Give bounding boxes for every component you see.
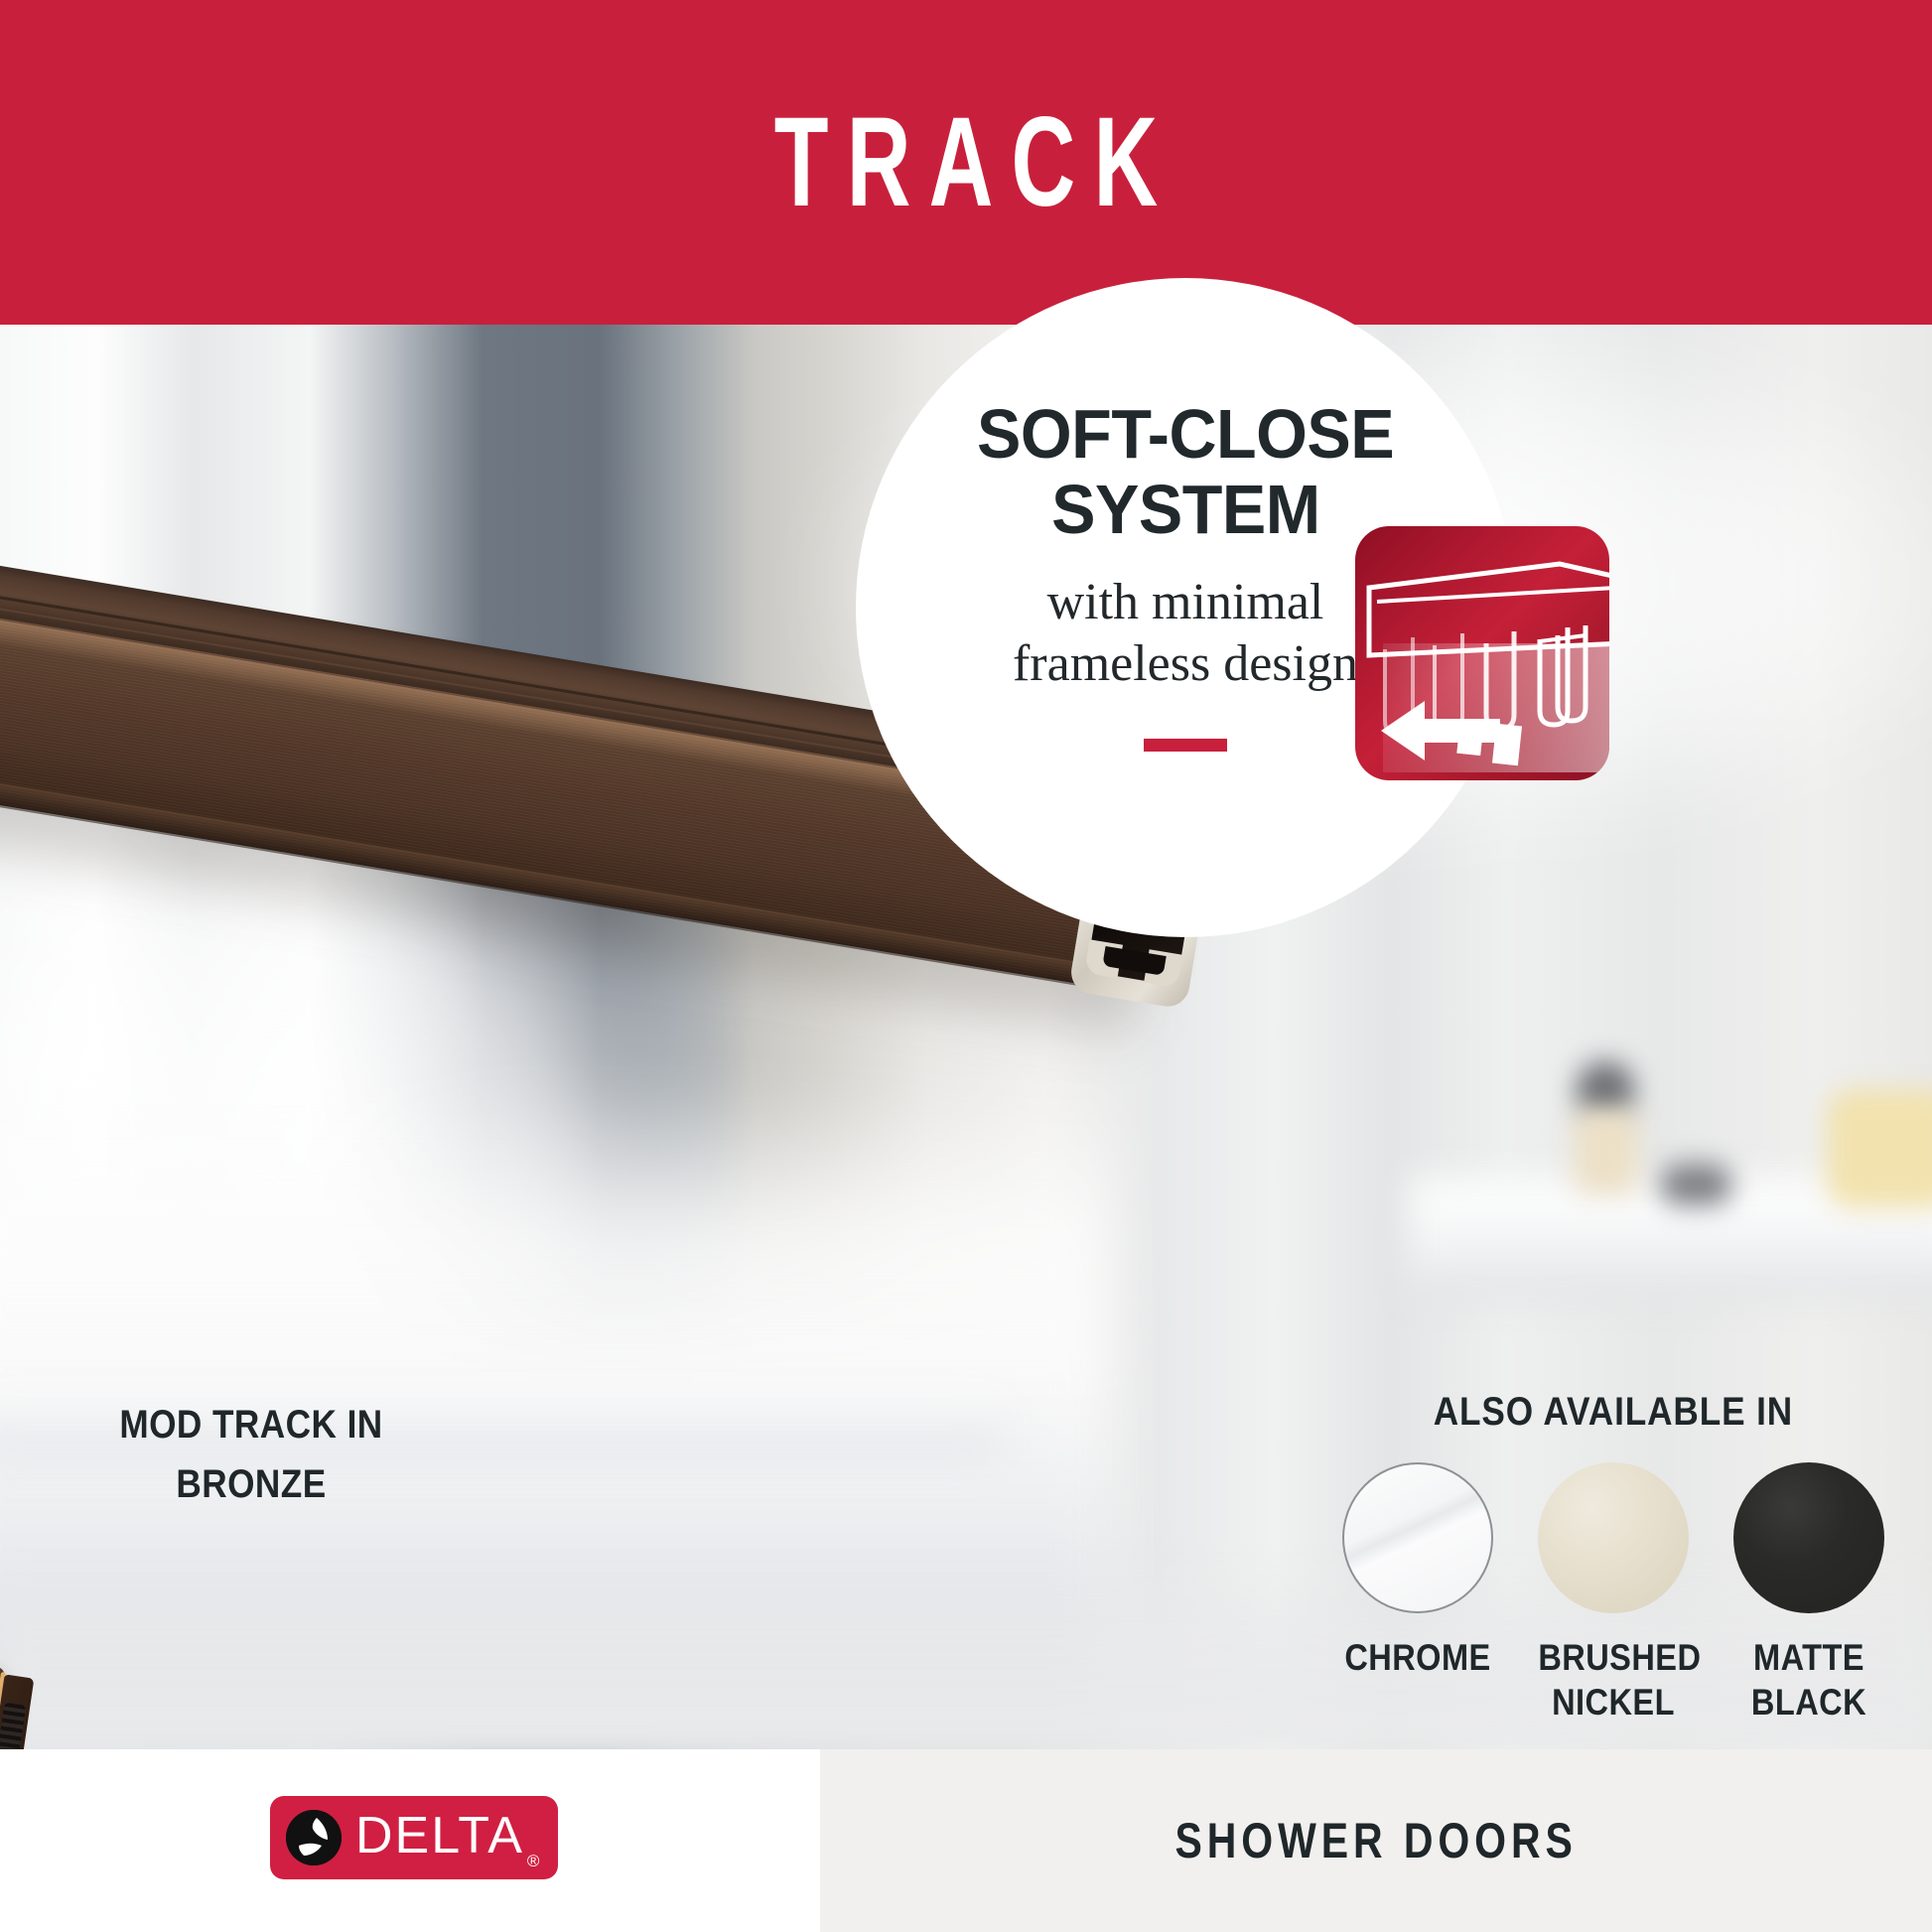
header-banner: TRACK: [0, 0, 1932, 325]
matte-black-swatch[interactable]: [1733, 1462, 1884, 1613]
blurred-towel: [1827, 1089, 1932, 1208]
swatch-label: CHROME: [1332, 1635, 1503, 1680]
badge-subtext-line1: with minimal: [1013, 572, 1358, 633]
product-caption-line2: BRONZE: [80, 1454, 421, 1514]
blurred-bottle-body: [1575, 1109, 1638, 1194]
badge-headline-line2: SYSTEM: [1051, 475, 1320, 544]
badge-divider-dash: [1144, 739, 1227, 752]
brushed-nickel-swatch[interactable]: [1538, 1462, 1689, 1613]
badge-subtext-line2: frameless design: [1013, 633, 1358, 695]
delta-logo[interactable]: DELTA®: [270, 1796, 558, 1879]
soft-close-track-icon: [1355, 526, 1609, 780]
also-available-section: ALSO AVAILABLE IN CHROME BRUSHED NICKEL …: [1320, 1390, 1906, 1725]
finish-swatch-matte-black[interactable]: MATTE BLACK: [1724, 1462, 1894, 1725]
finish-swatch-brushed-nickel[interactable]: BRUSHED NICKEL: [1528, 1462, 1699, 1725]
finish-swatch-list: CHROME BRUSHED NICKEL MATTE BLACK: [1320, 1462, 1906, 1725]
footer-category-label: SHOWER DOORS: [820, 1749, 1932, 1932]
product-caption: MOD TRACK IN BRONZE: [58, 1395, 445, 1514]
blurred-jar: [1660, 1164, 1731, 1205]
product-marketing-image: TRACK: [0, 0, 1932, 1932]
badge-headline-line1: SOFT-CLOSE: [977, 399, 1394, 469]
registered-mark: ®: [527, 1852, 542, 1870]
chrome-swatch[interactable]: [1342, 1462, 1493, 1613]
product-caption-line1: MOD TRACK IN: [80, 1395, 421, 1454]
badge-subtext: with minimal frameless design: [1013, 572, 1358, 695]
finish-swatch-chrome[interactable]: CHROME: [1332, 1462, 1503, 1680]
footer-bar: DELTA® SHOWER DOORS: [0, 1749, 1932, 1932]
delta-triangle-icon: [286, 1810, 342, 1865]
also-available-title: ALSO AVAILABLE IN: [1320, 1390, 1906, 1435]
swatch-label: MATTE BLACK: [1724, 1635, 1894, 1725]
delta-wordmark: DELTA®: [355, 1810, 538, 1862]
swatch-label: BRUSHED NICKEL: [1528, 1635, 1699, 1725]
page-title: TRACK: [757, 99, 1176, 226]
